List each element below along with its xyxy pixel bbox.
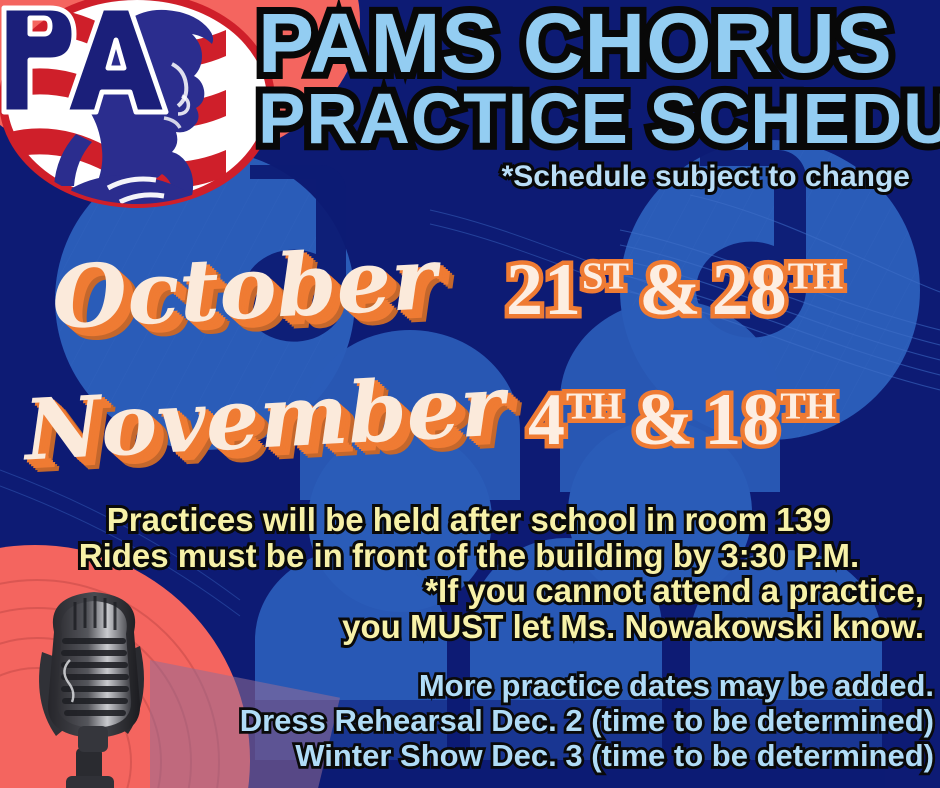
detail-line-room: Practices will be held after school in r… xyxy=(0,502,938,538)
practice-details-block: Practices will be held after school in r… xyxy=(0,502,938,645)
chorus-practice-schedule-poster: PAMS CHORUS PRACTICE SCHEDULE *Schedule … xyxy=(0,0,940,788)
november-dates: 4TH&18TH xyxy=(528,378,836,463)
november-date-1: 4 xyxy=(528,379,566,461)
november-date-separator: & xyxy=(622,379,705,461)
november-ordinal-2: TH xyxy=(780,385,836,427)
october-date-separator: & xyxy=(629,249,712,331)
footer-line-dress-rehearsal: Dress Rehearsal Dec. 2 (time to be deter… xyxy=(0,703,934,738)
october-dates: 21ST&28TH xyxy=(506,248,843,333)
pams-patriot-logo xyxy=(0,0,278,220)
schedule-subject-note: *Schedule subject to change xyxy=(258,160,934,194)
october-ordinal-2: TH xyxy=(788,255,844,297)
october-ordinal-1: ST xyxy=(582,255,629,297)
poster-header: PAMS CHORUS PRACTICE SCHEDULE *Schedule … xyxy=(258,4,934,194)
page-title-line-2: PRACTICE SCHEDULE xyxy=(258,87,934,154)
footer-line-more-dates: More practice dates may be added. xyxy=(0,668,934,703)
footer-notes-block: More practice dates may be added. Dress … xyxy=(0,668,940,773)
footer-line-winter-show: Winter Show Dec. 3 (time to be determine… xyxy=(0,738,934,773)
october-date-1: 21 xyxy=(506,249,582,331)
month-label-october: October xyxy=(50,228,439,349)
november-date-2: 18 xyxy=(704,379,780,461)
detail-line-notify-teacher: you MUST let Ms. Nowakowski know. xyxy=(0,609,938,645)
detail-line-rides: Rides must be in front of the building b… xyxy=(0,538,938,574)
october-date-2: 28 xyxy=(712,249,788,331)
november-ordinal-1: TH xyxy=(566,385,622,427)
detail-line-cannot-attend: *If you cannot attend a practice, xyxy=(0,573,938,609)
page-title-line-1: PAMS CHORUS xyxy=(258,4,934,83)
